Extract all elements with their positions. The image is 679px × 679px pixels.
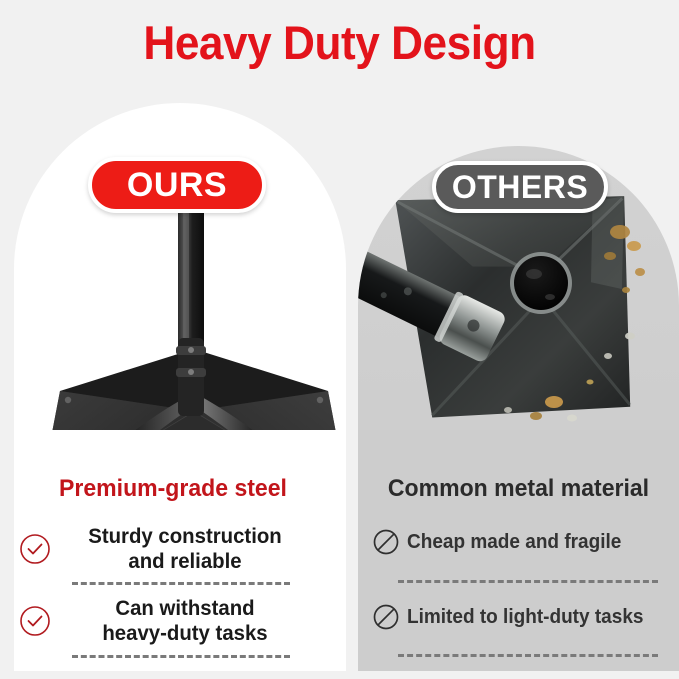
ours-feature-2-line2: heavy-duty tasks [56,621,314,646]
others-feature-1-text: Cheap made and fragile [407,530,621,554]
ours-divider-1 [72,582,290,585]
ours-badge-label: OURS [127,166,227,205]
ours-feature-2-line1: Can withstand [56,596,314,621]
ban-icon [372,528,400,556]
ours-badge: OURS [88,157,266,213]
ours-feature-2: Can withstand heavy-duty tasks [18,592,318,650]
others-feature-1: Cheap made and fragile [372,525,672,559]
others-badge: OTHERS [432,161,608,213]
others-feature-2: Limited to light-duty tasks [372,600,672,634]
check-circle-icon [18,604,52,638]
others-divider-1 [398,580,658,583]
others-badge-label: OTHERS [452,169,588,206]
check-circle-icon [18,532,52,566]
others-divider-2 [398,654,658,657]
ours-feature-1: Sturdy construction and reliable [18,520,318,578]
ours-feature-1-line1: Sturdy construction [56,524,314,549]
ours-feature-1-line2: and reliable [56,549,314,574]
infographic-canvas: Heavy Duty Design [0,0,679,679]
ours-feature-2-text: Can withstand heavy-duty tasks [56,596,314,646]
others-feature-2-text: Limited to light-duty tasks [407,605,643,629]
page-title: Heavy Duty Design [20,16,658,70]
ours-heading: Premium-grade steel [7,474,339,504]
ban-icon [372,603,400,631]
others-heading: Common metal material [364,474,672,504]
ours-divider-2 [72,655,290,658]
ours-feature-1-text: Sturdy construction and reliable [56,524,314,574]
